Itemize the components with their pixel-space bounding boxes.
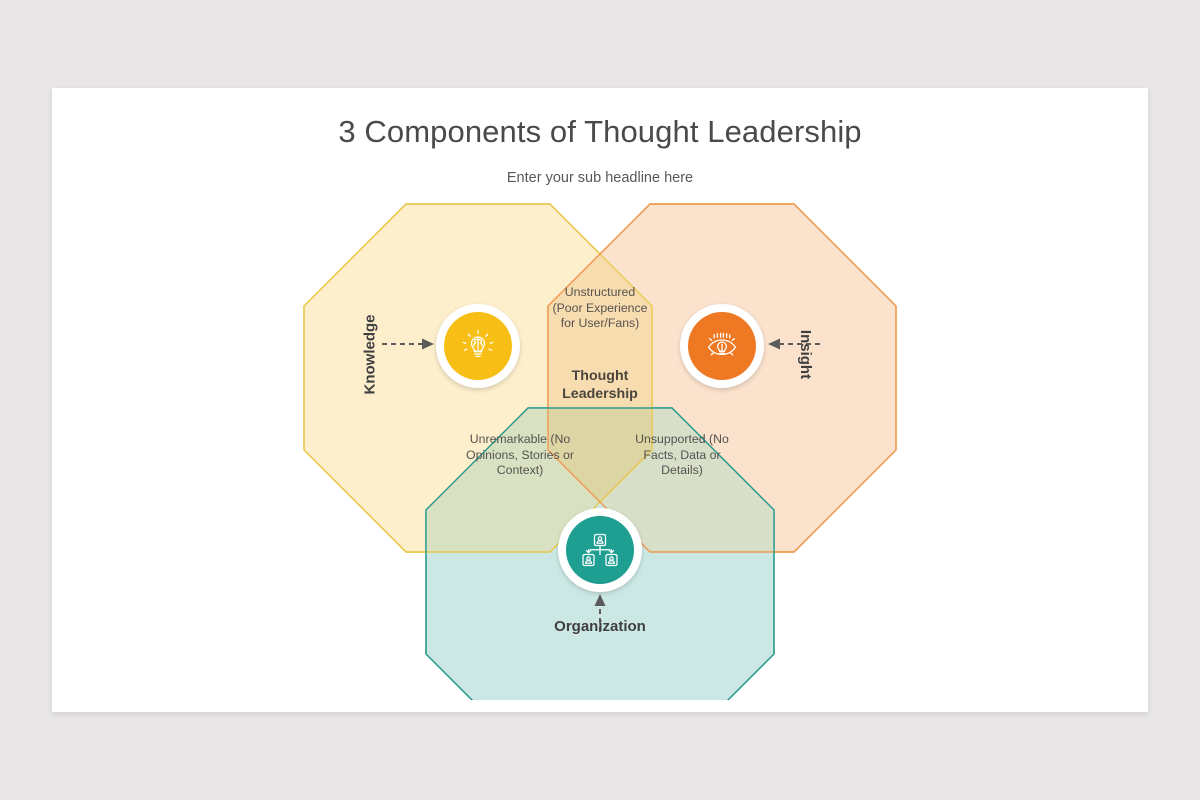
page-title: 3 Components of Thought Leadership [52,114,1148,150]
set-label-insight: Insight [797,330,814,379]
page-subtitle: Enter your sub headline here [52,170,1148,186]
overlap-ki-line1: Unstructured [539,285,661,301]
slide-canvas: 3 Components of Thought Leadership Enter… [52,88,1148,712]
icon-badge-insight[interactable] [680,304,764,388]
overlap-ki-line3: for User/Fans) [539,316,661,332]
icon-badge-knowledge[interactable] [436,304,520,388]
overlap-ki-line2: (Poor Experience [539,301,661,317]
overlap-ko-line2: Opinions, Stories or [452,448,588,464]
set-label-knowledge: Knowledge [362,314,379,394]
overlap-ko-line1: Unremarkable (No [452,432,588,448]
eye-lightbulb-icon [688,312,756,380]
core-label-line1: Thought [538,368,662,386]
venn-diagram: Unstructured (Poor Experience for User/F… [52,200,1148,700]
overlap-io-line2: Facts, Data or [614,448,750,464]
org-chart-people-icon [566,516,634,584]
overlap-io-line1: Unsupported (No [614,432,750,448]
overlap-label-knowledge-organization: Unremarkable (No Opinions, Stories or Co… [452,432,588,479]
set-label-organization: Organization [552,618,648,635]
overlap-label-insight-organization: Unsupported (No Facts, Data or Details) [614,432,750,479]
overlap-io-line3: Details) [614,463,750,479]
core-label: Thought Leadership [538,368,662,403]
arrow-right-dashed [382,336,438,352]
icon-badge-organization[interactable] [558,508,642,592]
core-label-line2: Leadership [538,386,662,404]
overlap-label-knowledge-insight: Unstructured (Poor Experience for User/F… [539,285,661,332]
lightbulb-brain-icon [444,312,512,380]
overlap-ko-line3: Context) [452,463,588,479]
